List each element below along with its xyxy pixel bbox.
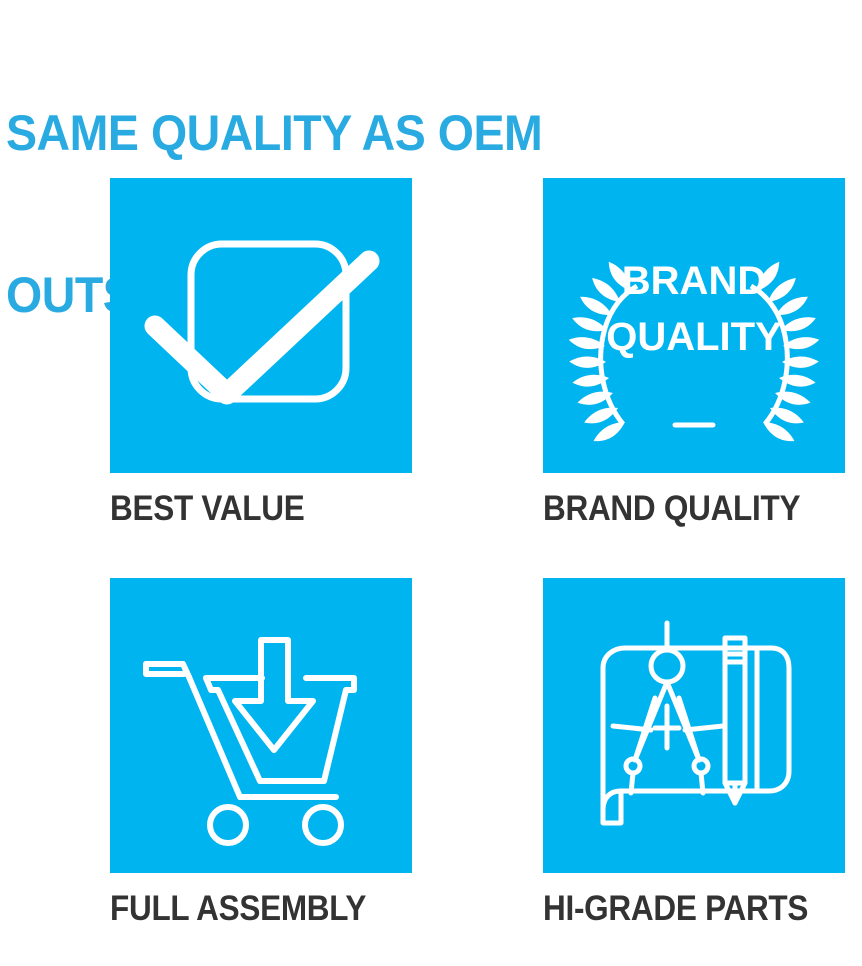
headline-line-1: SAME QUALITY AS OEM: [6, 106, 797, 160]
wreath-text-brand: BRAND: [622, 259, 766, 303]
feature-row-2: FULL ASSEMBLY: [0, 566, 862, 966]
laurel-wreath-icon: BRAND QUALITY: [543, 178, 845, 473]
feature-full-assembly: FULL ASSEMBLY: [110, 578, 412, 928]
feature-label-full-assembly: FULL ASSEMBLY: [110, 890, 382, 928]
feature-grid: BEST VALUE: [0, 166, 862, 966]
blueprint-compass-pencil-icon: [543, 578, 845, 873]
feature-label-brand-quality: BRAND QUALITY: [543, 490, 815, 528]
feature-label-hi-grade-parts: HI-GRADE PARTS: [543, 890, 815, 928]
checkbox-check-icon: [110, 178, 412, 473]
feature-tile-brand-quality: BRAND QUALITY: [543, 178, 845, 473]
feature-tile-best-value: [110, 178, 412, 473]
feature-hi-grade-parts: HI-GRADE PARTS: [543, 578, 845, 928]
feature-row-1: BEST VALUE: [0, 166, 862, 566]
shopping-cart-download-icon: [110, 578, 412, 873]
feature-best-value: BEST VALUE: [110, 178, 412, 528]
feature-tile-full-assembly: [110, 578, 412, 873]
feature-brand-quality: BRAND QUALITY BRAND QUALITY: [543, 178, 845, 528]
feature-tile-hi-grade-parts: [543, 578, 845, 873]
feature-label-best-value: BEST VALUE: [110, 490, 382, 528]
wreath-text-quality: QUALITY: [606, 315, 782, 359]
